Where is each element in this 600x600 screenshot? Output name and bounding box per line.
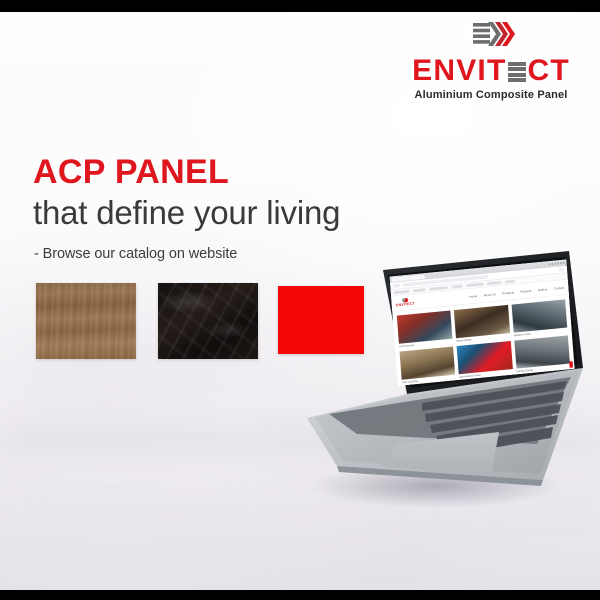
- ad-canvas: ENVIT CT Aluminium Composite Panel ACP P…: [0, 0, 600, 600]
- headline-block: ACP PANEL that define your living - Brow…: [33, 155, 340, 262]
- headline-primary: ACP PANEL: [33, 155, 340, 191]
- laptop-mockup: ENVITECT Home About Us Products Projects…: [285, 248, 585, 513]
- project-card[interactable]: Marble Range: [514, 335, 570, 373]
- project-card[interactable]: Metallic Finish: [511, 299, 567, 337]
- wood-finish-swatch[interactable]: [36, 283, 136, 359]
- site-nav-item-about[interactable]: About Us: [483, 292, 496, 297]
- site-nav-item-projects[interactable]: Projects: [520, 289, 531, 294]
- site-nav-item-products[interactable]: Products: [502, 290, 514, 295]
- site-nav-item-contact[interactable]: Contact: [554, 285, 565, 290]
- project-card[interactable]: Villa Cladding: [400, 346, 456, 384]
- project-thumbnail: [400, 346, 456, 379]
- brand-wordmark: ENVIT CT: [398, 56, 584, 86]
- wordmark-bar-e-icon: [508, 62, 526, 83]
- hexagon-chevron-icon: [462, 14, 520, 54]
- brand-tagline: Aluminium Composite Panel: [398, 89, 584, 101]
- letterbox-bar-top: [0, 0, 600, 12]
- project-thumbnail: [457, 341, 513, 374]
- laptop-svg: ENVITECT Home About Us Products Projects…: [285, 248, 585, 513]
- browser-window-controls[interactable]: [548, 262, 564, 265]
- site-logo[interactable]: ENVITECT: [396, 297, 415, 308]
- brand-logo: ENVIT CT Aluminium Composite Panel: [398, 14, 584, 101]
- site-nav-item-gallery[interactable]: Gallery: [538, 287, 548, 292]
- marble-finish-swatch[interactable]: [158, 283, 258, 359]
- wordmark-part-2: CT: [527, 56, 569, 86]
- wordmark-part-1: ENVIT: [412, 56, 506, 86]
- site-logo-text: ENVITECT: [396, 301, 415, 307]
- site-chat-badge-icon[interactable]: [569, 361, 573, 368]
- project-thumbnail: [454, 305, 510, 338]
- project-thumbnail: [514, 335, 570, 368]
- project-card[interactable]: ACP Facade: [397, 310, 453, 348]
- project-thumbnail: [511, 299, 567, 332]
- letterbox-bar-bottom: [0, 590, 600, 600]
- headline-secondary: that define your living: [33, 195, 340, 232]
- project-card[interactable]: Commercial Tower: [457, 341, 513, 379]
- project-thumbnail: [397, 310, 453, 343]
- project-card[interactable]: Wood Series: [454, 305, 510, 343]
- browser-window[interactable]: ENVITECT Home About Us Products Projects…: [390, 259, 575, 386]
- site-nav-item-home[interactable]: Home: [469, 294, 477, 298]
